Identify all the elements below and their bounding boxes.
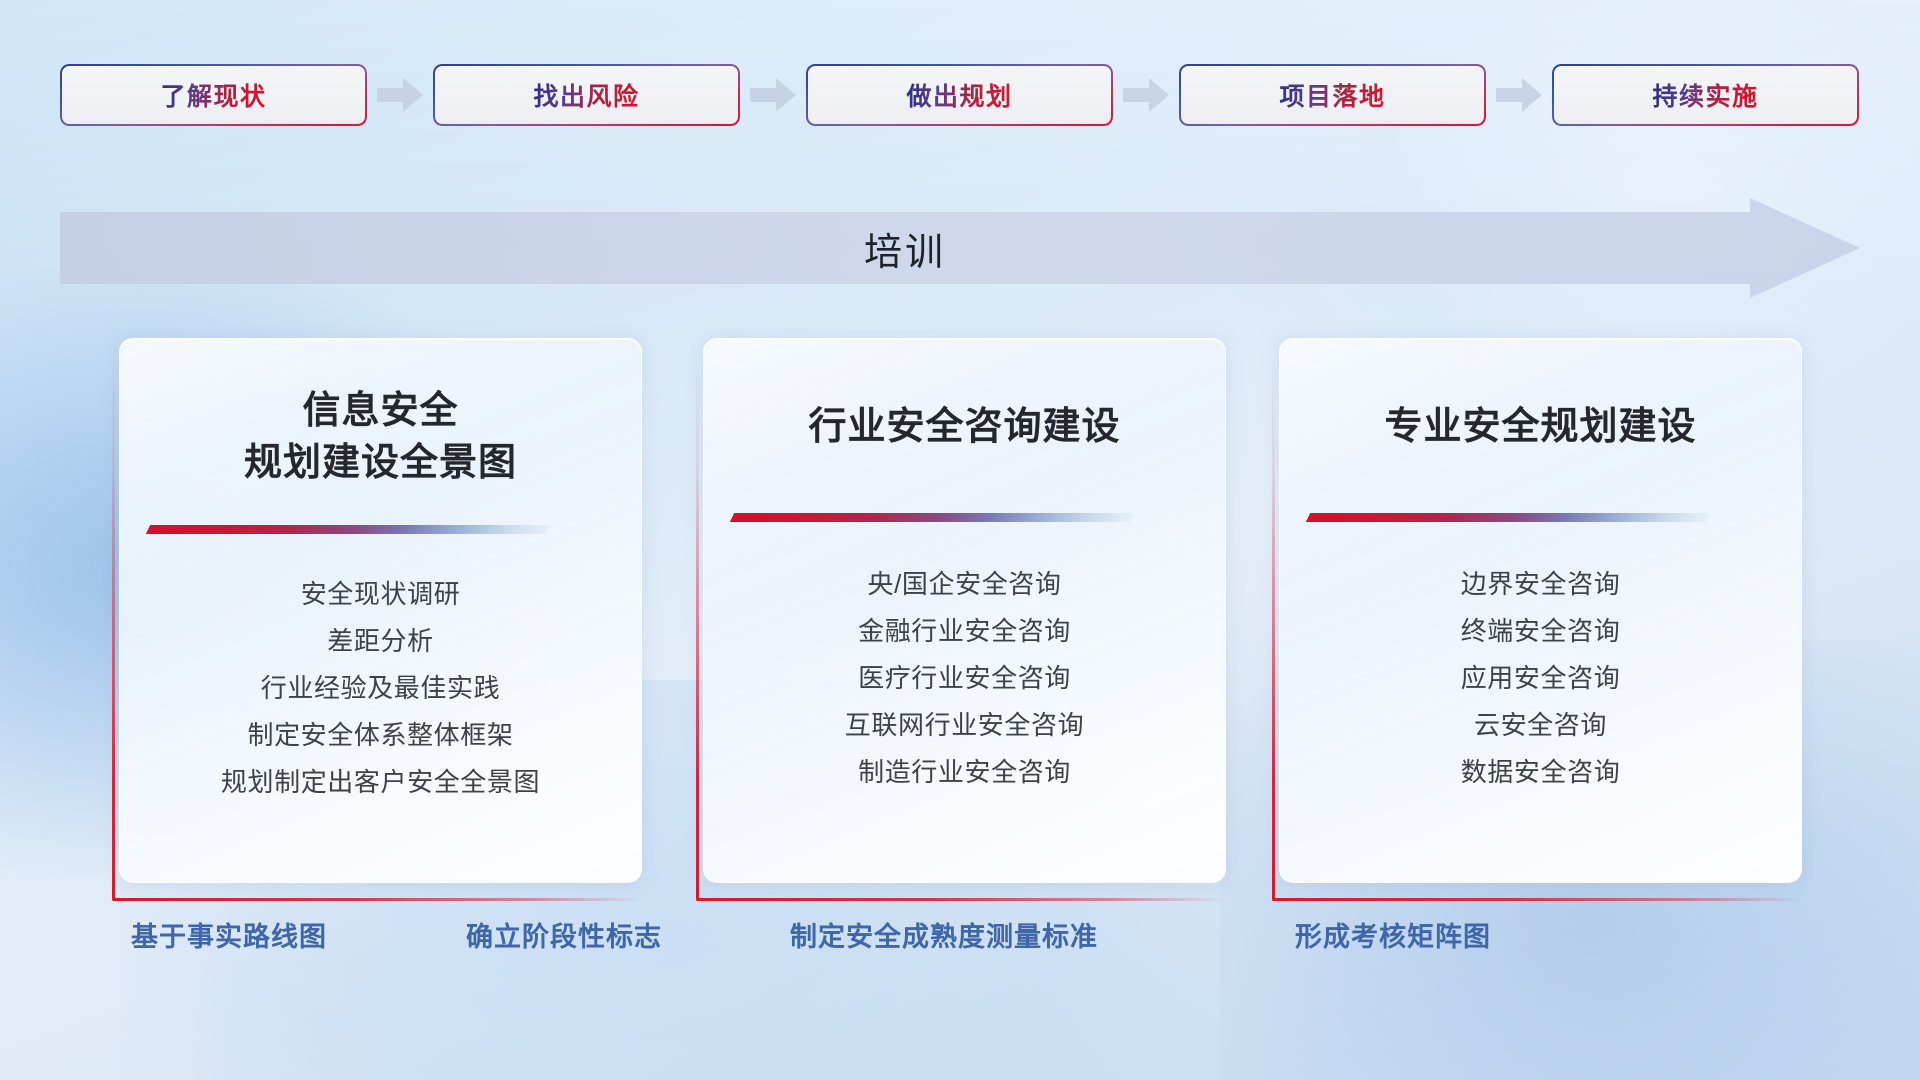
list-item: 行业经验及最佳实践 bbox=[120, 665, 641, 712]
card-title-line-1: 专业安全规划建设 bbox=[1280, 401, 1801, 453]
right-arrow-icon bbox=[367, 78, 433, 112]
list-item: 金融行业安全咨询 bbox=[704, 608, 1225, 655]
process-step-label: 持续实施 bbox=[1652, 77, 1758, 113]
card-item-list: 央/国企安全咨询 金融行业安全咨询 医疗行业安全咨询 互联网行业安全咨询 制造行… bbox=[704, 561, 1225, 796]
list-item: 云安全咨询 bbox=[1280, 702, 1801, 749]
card-body: 专业安全规划建设 边界安全咨询 终端安全咨询 应用安全咨询 云安全咨询 数据安全… bbox=[1279, 338, 1802, 883]
card-title: 行业安全咨询建设 bbox=[704, 401, 1225, 453]
caption-maturity: 制定安全成熟度测量标准 bbox=[790, 915, 1098, 954]
card-divider bbox=[730, 513, 1134, 522]
right-arrow-icon bbox=[1113, 78, 1179, 112]
list-item: 央/国企安全咨询 bbox=[704, 561, 1225, 608]
list-item: 互联网行业安全咨询 bbox=[704, 702, 1225, 749]
process-step-3[interactable]: 做出规划 bbox=[806, 64, 1113, 126]
process-step-label: 做出规划 bbox=[906, 77, 1012, 113]
card-left-accent-line bbox=[696, 352, 699, 900]
card-left-accent-line bbox=[1272, 352, 1275, 900]
process-step-label: 项目落地 bbox=[1279, 77, 1385, 113]
card-divider bbox=[1306, 513, 1710, 522]
process-step-label: 找出风险 bbox=[533, 77, 639, 113]
list-item: 制定安全体系整体框架 bbox=[120, 712, 641, 759]
card-item-list: 边界安全咨询 终端安全咨询 应用安全咨询 云安全咨询 数据安全咨询 bbox=[1280, 561, 1801, 796]
process-step-bar: 了解现状 找出风险 做出规划 项目落地 bbox=[60, 64, 1860, 126]
card-title: 信息安全 规划建设全景图 bbox=[120, 385, 641, 490]
right-arrow-icon bbox=[740, 78, 806, 112]
banner-title: 培训 bbox=[60, 198, 1750, 298]
list-item: 终端安全咨询 bbox=[1280, 608, 1801, 655]
caption-row: 基于事实路线图 确立阶段性标志 制定安全成熟度测量标准 形成考核矩阵图 bbox=[0, 915, 1920, 965]
card-left-accent-line bbox=[112, 352, 115, 900]
card-item-list: 安全现状调研 差距分析 行业经验及最佳实践 制定安全体系整体框架 规划制定出客户… bbox=[120, 571, 641, 806]
caption-roadmap: 基于事实路线图 bbox=[131, 915, 327, 954]
slide-canvas: 了解现状 找出风险 做出规划 项目落地 bbox=[0, 0, 1920, 1080]
card-bottom-accent-line bbox=[112, 898, 642, 901]
caption-matrix: 形成考核矩阵图 bbox=[1295, 915, 1491, 954]
card-body: 信息安全 规划建设全景图 安全现状调研 差距分析 行业经验及最佳实践 制定安全体… bbox=[119, 338, 642, 883]
card-body: 行业安全咨询建设 央/国企安全咨询 金融行业安全咨询 医疗行业安全咨询 互联网行… bbox=[703, 338, 1226, 883]
card-industry-security-consulting[interactable]: 行业安全咨询建设 央/国企安全咨询 金融行业安全咨询 医疗行业安全咨询 互联网行… bbox=[696, 338, 1226, 878]
card-information-security-blueprint[interactable]: 信息安全 规划建设全景图 安全现状调研 差距分析 行业经验及最佳实践 制定安全体… bbox=[112, 338, 642, 878]
process-step-5[interactable]: 持续实施 bbox=[1552, 64, 1859, 126]
list-item: 应用安全咨询 bbox=[1280, 655, 1801, 702]
card-title-line-2: 规划建设全景图 bbox=[120, 437, 641, 489]
card-title-line-1: 信息安全 bbox=[120, 385, 641, 437]
process-step-label: 了解现状 bbox=[160, 77, 266, 113]
list-item: 制造行业安全咨询 bbox=[704, 749, 1225, 796]
card-bottom-accent-line bbox=[1272, 898, 1802, 901]
card-title-line-1: 行业安全咨询建设 bbox=[704, 401, 1225, 453]
caption-milestone: 确立阶段性标志 bbox=[466, 915, 662, 954]
list-item: 安全现状调研 bbox=[120, 571, 641, 618]
list-item: 数据安全咨询 bbox=[1280, 749, 1801, 796]
list-item: 差距分析 bbox=[120, 618, 641, 665]
list-item: 边界安全咨询 bbox=[1280, 561, 1801, 608]
training-banner: 培训 bbox=[60, 198, 1860, 298]
process-step-2[interactable]: 找出风险 bbox=[433, 64, 740, 126]
process-step-4[interactable]: 项目落地 bbox=[1179, 64, 1486, 126]
card-professional-security-planning[interactable]: 专业安全规划建设 边界安全咨询 终端安全咨询 应用安全咨询 云安全咨询 数据安全… bbox=[1272, 338, 1802, 878]
card-divider bbox=[146, 525, 550, 534]
card-title: 专业安全规划建设 bbox=[1280, 401, 1801, 453]
process-step-1[interactable]: 了解现状 bbox=[60, 64, 367, 126]
card-bottom-accent-line bbox=[696, 898, 1226, 901]
list-item: 医疗行业安全咨询 bbox=[704, 655, 1225, 702]
list-item: 规划制定出客户安全全景图 bbox=[120, 759, 641, 806]
card-row: 信息安全 规划建设全景图 安全现状调研 差距分析 行业经验及最佳实践 制定安全体… bbox=[0, 330, 1920, 890]
right-arrow-icon bbox=[1486, 78, 1552, 112]
